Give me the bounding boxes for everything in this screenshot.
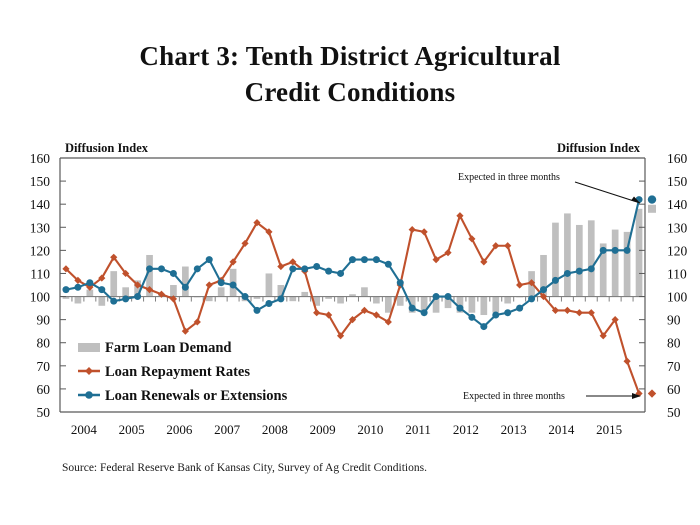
axis-ticks [72, 297, 633, 302]
y-tick-left-130: 130 [30, 220, 51, 235]
marker-2009Q2 [313, 263, 320, 270]
marker-2011Q3 [421, 309, 428, 316]
marker-2004Q4 [98, 286, 105, 293]
marker-2013Q1 [492, 312, 499, 319]
marker-2009Q2 [313, 309, 320, 316]
marker-2007Q1 [206, 256, 213, 263]
bar-2009Q1 [301, 292, 308, 297]
legend-label: Farm Loan Demand [105, 340, 231, 356]
marker-2015Q1 [588, 309, 595, 316]
bar-2007Q2 [218, 287, 225, 296]
marker-2013Q3 [516, 281, 523, 288]
bar-2013Q2 [504, 297, 511, 304]
y-tick-right-50: 50 [667, 405, 681, 420]
annotation-expected-top: Expected in three months [458, 172, 640, 203]
bar-2004Q2 [75, 297, 82, 304]
marker-2006Q4 [194, 265, 201, 272]
bar-2013Q1 [492, 297, 499, 313]
y-tick-right-110: 110 [667, 266, 687, 281]
marker-2008Q1 [253, 307, 260, 314]
bar-2005Q1 [110, 271, 117, 296]
marker-2011Q2 [409, 226, 416, 233]
y-tick-right-100: 100 [667, 290, 688, 305]
bar-2004Q4 [98, 297, 105, 306]
annotation-expected-bottom: Expected in three months [463, 391, 641, 402]
marker-2012Q4 [480, 323, 487, 330]
bar-2009Q4 [337, 297, 344, 304]
y-tick-right-160: 160 [667, 151, 688, 166]
bar-2012Q3 [469, 297, 476, 313]
marker-2005Q3 [134, 293, 141, 300]
marker-2013Q4 [528, 295, 535, 302]
annotation-expected-top-text: Expected in three months [458, 172, 560, 183]
marker-2013Q2 [504, 242, 511, 249]
legend-item-loan-repayment-rates[interactable]: Loan Repayment Rates [78, 364, 250, 380]
marker-2014Q2 [552, 277, 559, 284]
y-tick-right-80: 80 [667, 336, 681, 351]
marker-2006Q3 [182, 284, 189, 291]
y-tick-left-70: 70 [37, 359, 51, 374]
marker-2012Q3 [468, 314, 475, 321]
y-tick-right-90: 90 [667, 313, 681, 328]
bar-2010Q3 [373, 297, 380, 304]
marker-2005Q4 [146, 265, 153, 272]
x-year-label-2010: 2010 [357, 422, 383, 437]
x-axis-year-labels: 2004200520062007200820092010201120122013… [71, 422, 622, 437]
marker-2014Q4 [576, 268, 583, 275]
bar-Expected [636, 209, 643, 297]
marker-2009Q1 [301, 265, 308, 272]
bar-2007Q1 [206, 297, 213, 302]
marker-2015Q4 [623, 358, 630, 365]
marker-2007Q1 [206, 281, 213, 288]
marker-2015Q2 [600, 247, 607, 254]
marker-2012Q2 [456, 212, 463, 219]
y-tick-right-130: 130 [667, 220, 688, 235]
marker-2009Q4 [337, 270, 344, 277]
legend-label: Loan Renewals or Extensions [105, 388, 288, 404]
y-tick-left-60: 60 [37, 382, 51, 397]
x-year-label-2008: 2008 [262, 422, 288, 437]
marker-2008Q2 [265, 300, 272, 307]
legend-swatch-marker [85, 367, 93, 375]
marker-2010Q3 [373, 256, 380, 263]
y-tick-right-70: 70 [667, 359, 681, 374]
x-year-label-2014: 2014 [548, 422, 575, 437]
axis-titles: Diffusion IndexDiffusion Index [65, 141, 641, 155]
y-tick-right-150: 150 [667, 174, 688, 189]
marker-2011Q2 [409, 305, 416, 312]
marker-2014Q3 [564, 270, 571, 277]
annotation-expected-bottom-text: Expected in three months [463, 391, 565, 402]
bar-2015Q1 [588, 220, 595, 296]
y-tick-left-120: 120 [30, 243, 51, 258]
marker-2013Q3 [516, 305, 523, 312]
y-tick-left-80: 80 [37, 336, 51, 351]
marker-2010Q2 [361, 256, 368, 263]
y-axis-title-left: Diffusion Index [65, 141, 149, 155]
bar-2014Q4 [576, 225, 583, 297]
legend-label: Loan Repayment Rates [105, 364, 250, 380]
marker-2011Q1 [397, 279, 404, 286]
chart-page: Chart 3: Tenth District Agricultural Cre… [0, 0, 700, 525]
y-tick-right-140: 140 [667, 197, 688, 212]
marker-2005Q2 [122, 295, 129, 302]
x-year-label-2011: 2011 [405, 422, 431, 437]
marker-2013Q2 [504, 309, 511, 316]
marker-2014Q4 [576, 309, 583, 316]
marker-2007Q4 [242, 293, 249, 300]
y-axis-title-right: Diffusion Index [557, 141, 641, 155]
bar-2010Q2 [361, 287, 368, 296]
legend-item-farm-loan-demand[interactable]: Farm Loan Demand [78, 340, 231, 356]
chart-legend: Farm Loan DemandLoan Repayment RatesLoan… [78, 340, 288, 404]
expected-loan-renewals-marker [648, 195, 656, 203]
bar-2011Q1 [397, 297, 404, 306]
marker-2015Q4 [624, 247, 631, 254]
x-year-label-2015: 2015 [596, 422, 622, 437]
marker-2005Q1 [110, 298, 117, 305]
x-year-label-2004: 2004 [71, 422, 98, 437]
bar-2014Q2 [552, 223, 559, 297]
bar-2008Q2 [266, 273, 273, 296]
marker-2012Q3 [468, 235, 475, 242]
marker-2010Q4 [385, 261, 392, 268]
marker-2009Q3 [325, 268, 332, 275]
marker-2014Q3 [564, 307, 571, 314]
source-note: Source: Federal Reserve Bank of Kansas C… [62, 462, 427, 474]
marker-2007Q3 [230, 282, 237, 289]
marker-2008Q4 [289, 265, 296, 272]
marker-2008Q3 [277, 295, 284, 302]
marker-2012Q2 [456, 305, 463, 312]
marker-2015Q1 [588, 265, 595, 272]
x-year-label-2013: 2013 [501, 422, 527, 437]
marker-2014Q1 [540, 286, 547, 293]
x-year-label-2009: 2009 [310, 422, 336, 437]
bar-2010Q4 [385, 297, 392, 313]
bar-2006Q2 [170, 285, 177, 297]
marker-2006Q1 [158, 265, 165, 272]
marker-2008Q3 [277, 263, 284, 270]
y-tick-left-90: 90 [37, 313, 51, 328]
y-tick-left-140: 140 [30, 197, 51, 212]
y-tick-right-60: 60 [667, 382, 681, 397]
y-tick-left-50: 50 [37, 405, 51, 420]
marker-2010Q1 [349, 256, 356, 263]
legend-item-loan-renewals-or-extensions[interactable]: Loan Renewals or Extensions [78, 388, 288, 404]
y-tick-right-120: 120 [667, 243, 688, 258]
x-year-label-2006: 2006 [166, 422, 193, 437]
marker-2011Q4 [433, 293, 440, 300]
x-year-label-2012: 2012 [453, 422, 479, 437]
marker-2006Q2 [170, 270, 177, 277]
y-tick-left-100: 100 [30, 290, 51, 305]
marker-2015Q3 [612, 247, 619, 254]
marker-2004Q3 [86, 279, 93, 286]
marker-2004Q1 [62, 286, 69, 293]
x-year-label-2007: 2007 [214, 422, 241, 437]
marker-2011Q3 [421, 228, 428, 235]
bar-2014Q3 [564, 213, 571, 296]
y-tick-left-150: 150 [30, 174, 51, 189]
expected-loan-repayment-marker [648, 389, 656, 397]
bar-2015Q3 [612, 230, 619, 297]
bar-2006Q3 [182, 267, 189, 297]
marker-2012Q1 [445, 293, 452, 300]
y-tick-left-160: 160 [30, 151, 51, 166]
chart-canvas: 5050606070708080909010010011011012012013… [0, 0, 700, 460]
expected-farm-loan-demand-marker [648, 205, 656, 213]
bar-2008Q4 [289, 297, 296, 302]
bar-2005Q2 [122, 287, 129, 296]
marker-2007Q2 [218, 279, 225, 286]
y-tick-left-110: 110 [30, 266, 50, 281]
x-year-label-2005: 2005 [119, 422, 145, 437]
marker-2004Q2 [74, 284, 81, 291]
legend-swatch-bar [78, 343, 100, 352]
bar-2012Q4 [480, 297, 487, 315]
legend-swatch-marker [85, 391, 93, 399]
